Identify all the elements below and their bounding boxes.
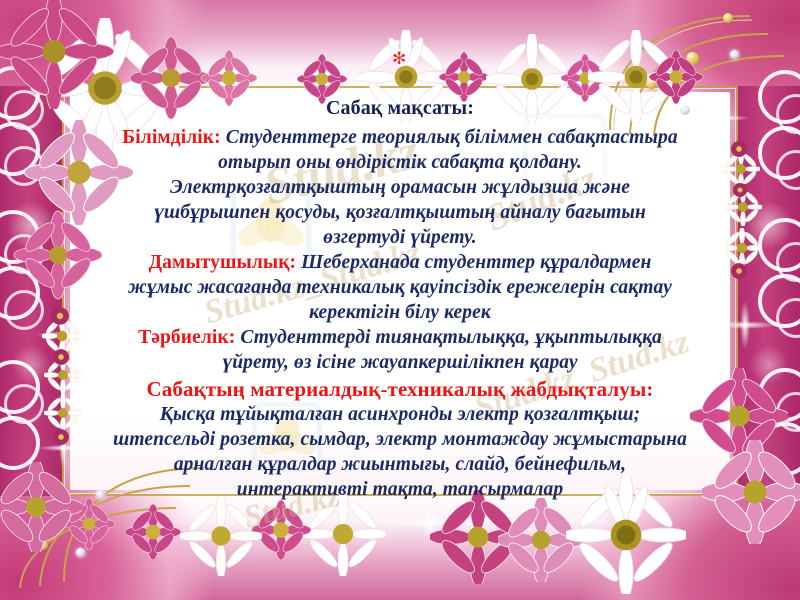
objective-label: Дамытушылық: (149, 252, 297, 273)
objective-line: Дамытушылық: Шеберханада студенттер құра… (86, 250, 714, 275)
objective-text: Студенттерге теориялық біліммен сабақтас… (226, 127, 678, 148)
objective-line: өзгертуді үйрету. (86, 225, 714, 250)
objective-line: үшбұрышпен қосуды, қозғалтқыштың айналу … (86, 200, 714, 225)
gold-bead (686, 52, 699, 65)
equipment-line: Қысқа тұйықталған асинхронды электр қозғ… (86, 402, 714, 427)
objective-text: Шеберханада студенттер құралдармен (301, 252, 651, 273)
crystal-gem (76, 548, 85, 557)
objective-line: отырып оны өндірістік сабақта қолдану. (86, 150, 714, 175)
objective-line: керектігін білу керек (86, 300, 714, 325)
objective-label: Тәрбиелік: (138, 327, 235, 348)
gold-bead (646, 78, 657, 89)
objective-text: Студенттерді тиянақтылыққа, ұқыптылыққа (240, 327, 662, 348)
objective-line: Білімділік: Студенттерге теориялық білім… (86, 125, 714, 150)
slide-text-content: Сабақ мақсаты: Білімділік: Студенттерге … (86, 96, 714, 502)
equipment-line: штепсельді розетка, сымдар, электр монта… (86, 427, 714, 452)
gold-bead (723, 13, 733, 23)
equipment-line: арналған құралдар жиынтығы, слайд, бейне… (86, 452, 714, 477)
equipment-line: интерактивті тақта, тапсырмалар (86, 477, 714, 502)
objective-line: Тәрбиелік: Студенттерді тиянақтылыққа, ұ… (86, 325, 714, 350)
crystal-gem (730, 50, 739, 59)
left-magenta-panel (0, 86, 62, 496)
right-magenta-panel (738, 86, 800, 496)
equipment-heading: Сабақтың материалдық-техникалық жабдықта… (86, 377, 714, 402)
objective-line: жұмыс жасағанда техникалық қауіпсіздік е… (86, 275, 714, 300)
objective-line: Электрқозғалтқыштың орамасын жұлдызша жә… (86, 175, 714, 200)
objective-line: үйрету, өз ісіне жауапкершілікпен қарау (86, 350, 714, 375)
gold-bead (58, 498, 70, 510)
gold-bead (38, 540, 48, 550)
presentation-slide: Stud.kz Stud.kz Stud.kz_Stud.kz Stud.kz_… (0, 0, 800, 600)
page-title: Сабақ мақсаты: (86, 96, 714, 121)
objective-label: Білімділік: (122, 127, 220, 148)
